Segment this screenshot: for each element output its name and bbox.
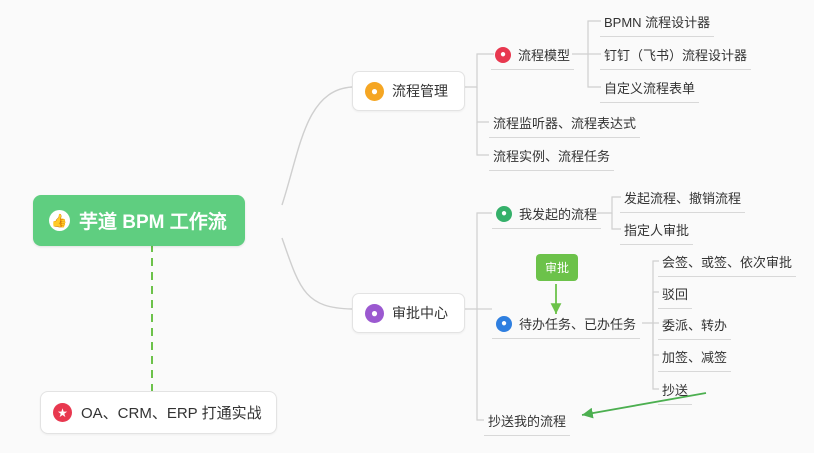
node-start-cancel-process[interactable]: 发起流程、撤销流程 xyxy=(620,185,745,213)
branch-node-process-management[interactable]: ● 流程管理 xyxy=(352,71,465,111)
annotation-label: 审批 xyxy=(545,261,569,275)
flag-icon: ● xyxy=(496,206,512,222)
minus-circle-icon: ● xyxy=(495,47,511,63)
node-label: 待办任务、已办任务 xyxy=(519,314,636,333)
check-circle-icon: ● xyxy=(496,316,512,332)
node-label: 我发起的流程 xyxy=(519,204,597,223)
node-add-remove-sign[interactable]: 加签、减签 xyxy=(658,344,731,372)
node-label: 自定义流程表单 xyxy=(604,78,695,97)
node-label: 抄送我的流程 xyxy=(488,411,566,430)
node-label: 加签、减签 xyxy=(662,347,727,366)
node-dingtalk-designer[interactable]: 钉钉（飞书）流程设计器 xyxy=(600,42,751,70)
node-label: 流程实例、流程任务 xyxy=(493,146,610,165)
node-label: 指定人审批 xyxy=(624,220,689,239)
branch-node-approval-center[interactable]: ● 审批中心 xyxy=(352,293,465,333)
node-assigned-approver[interactable]: 指定人审批 xyxy=(620,217,693,245)
node-process-model[interactable]: ● 流程模型 xyxy=(491,42,574,70)
node-custom-form[interactable]: 自定义流程表单 xyxy=(600,75,699,103)
node-label: 流程模型 xyxy=(518,45,570,64)
branch-label: 审批中心 xyxy=(392,303,448,323)
branch-label: 流程管理 xyxy=(392,81,448,101)
root-node[interactable]: 👍 芋道 BPM 工作流 xyxy=(33,195,245,246)
node-todo-done-tasks[interactable]: ● 待办任务、已办任务 xyxy=(492,311,640,339)
node-label: BPMN 流程设计器 xyxy=(604,12,710,31)
node-label: 抄送 xyxy=(662,380,688,399)
node-label: 钉钉（飞书）流程设计器 xyxy=(604,45,747,64)
mindmap-canvas: 👍 芋道 BPM 工作流 ● 流程管理 ● 流程模型 流程监听器、流程表达式 流… xyxy=(0,0,814,453)
node-reject[interactable]: 驳回 xyxy=(658,281,692,309)
node-label: 会签、或签、依次审批 xyxy=(662,252,792,271)
node-cc-to-me-process[interactable]: 抄送我的流程 xyxy=(484,408,570,436)
node-label: 驳回 xyxy=(662,284,688,303)
node-label: 流程监听器、流程表达式 xyxy=(493,113,636,132)
node-process-listener[interactable]: 流程监听器、流程表达式 xyxy=(489,110,640,138)
node-label: 委派、转办 xyxy=(662,315,727,334)
mail-icon: ● xyxy=(365,304,384,323)
node-multi-approval[interactable]: 会签、或签、依次审批 xyxy=(658,249,796,277)
node-carbon-copy[interactable]: 抄送 xyxy=(658,377,692,405)
callout-integration-practice[interactable]: ★ OA、CRM、ERP 打通实战 xyxy=(40,391,277,434)
node-label: 发起流程、撤销流程 xyxy=(624,188,741,207)
node-bpmn-designer[interactable]: BPMN 流程设计器 xyxy=(600,9,714,37)
node-delegate-transfer[interactable]: 委派、转办 xyxy=(658,312,731,340)
node-my-initiated-process[interactable]: ● 我发起的流程 xyxy=(492,201,601,229)
thumbs-up-icon: 👍 xyxy=(49,210,70,231)
location-pin-icon: ● xyxy=(365,82,384,101)
root-node-label: 芋道 BPM 工作流 xyxy=(79,207,227,234)
star-circle-icon: ★ xyxy=(53,403,72,422)
callout-label: OA、CRM、ERP 打通实战 xyxy=(81,402,262,423)
node-process-instance[interactable]: 流程实例、流程任务 xyxy=(489,143,614,171)
annotation-approval-tag: 审批 xyxy=(536,254,578,281)
